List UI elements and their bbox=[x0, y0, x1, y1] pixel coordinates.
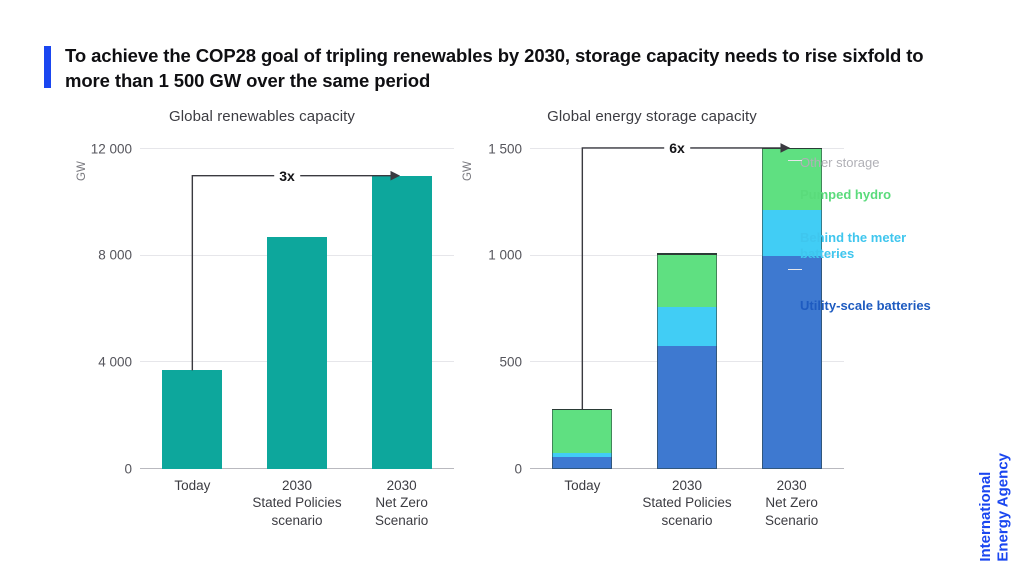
legend-item-utility[interactable]: Utility-scale batteries bbox=[800, 298, 950, 314]
x-axis-label-line: Today bbox=[535, 477, 629, 494]
y-axis-tick-label: 8 000 bbox=[98, 248, 132, 263]
x-axis-label: Today bbox=[145, 477, 239, 529]
bar-slot bbox=[640, 149, 734, 469]
y-axis-tick-label: 500 bbox=[499, 354, 522, 369]
bar-segment-utility[interactable] bbox=[657, 346, 717, 469]
x-axis-label: Today bbox=[535, 477, 629, 529]
bar[interactable] bbox=[657, 253, 717, 469]
legend-leader-line bbox=[788, 269, 802, 270]
bar-slot bbox=[355, 149, 449, 469]
x-axis-label-line: Net Zero bbox=[355, 494, 449, 511]
bar-slot bbox=[145, 149, 239, 469]
bar-group-storage bbox=[530, 149, 844, 469]
x-axis-label-line: Stated Policies bbox=[640, 494, 734, 511]
x-axis-labels-storage: Today2030Stated Policiesscenario2030Net … bbox=[530, 469, 844, 529]
x-axis-label: 2030Stated Policiesscenario bbox=[640, 477, 734, 529]
title-accent-bar bbox=[44, 46, 51, 88]
title-block: To achieve the COP28 goal of tripling re… bbox=[44, 44, 924, 93]
x-axis-label: 2030Net ZeroScenario bbox=[355, 477, 449, 529]
x-axis-label-line: Scenario bbox=[745, 512, 839, 529]
bar-segment-utility[interactable] bbox=[762, 256, 822, 469]
plot-inner-storage: 05001 0001 500 6x bbox=[530, 149, 844, 469]
bar[interactable] bbox=[267, 237, 327, 469]
x-axis-label-line: Today bbox=[145, 477, 239, 494]
x-axis-label-line: Stated Policies bbox=[250, 494, 344, 511]
bar-slot bbox=[535, 149, 629, 469]
chart-panel-storage: Global energy storage capacity GW 05001 … bbox=[452, 108, 852, 469]
bar-segment-btm[interactable] bbox=[657, 307, 717, 346]
x-axis-label-line: Net Zero bbox=[745, 494, 839, 511]
bar[interactable] bbox=[162, 370, 222, 469]
x-axis-label: 2030Net ZeroScenario bbox=[745, 477, 839, 529]
plot-area-storage: GW 05001 0001 500 6x Today2030Stated Pol… bbox=[452, 149, 852, 469]
y-axis-unit-storage: GW bbox=[462, 161, 474, 181]
legend-item-btm[interactable]: Behind the meter batteries bbox=[800, 230, 950, 262]
y-axis-tick-label: 1 500 bbox=[488, 141, 522, 156]
bar[interactable] bbox=[372, 176, 432, 469]
x-axis-label-line: 2030 bbox=[355, 477, 449, 494]
chart-title-storage: Global energy storage capacity bbox=[452, 108, 852, 125]
slide-canvas: To achieve the COP28 goal of tripling re… bbox=[0, 0, 1024, 576]
y-axis-unit-renewables: GW bbox=[76, 161, 88, 181]
chart-title-renewables: Global renewables capacity bbox=[62, 108, 462, 125]
y-axis-tick-label: 1 000 bbox=[488, 248, 522, 263]
iea-brand-label: International Energy Agency bbox=[977, 453, 1012, 562]
bar-segment-utility[interactable] bbox=[552, 457, 612, 469]
y-axis-tick-label: 4 000 bbox=[98, 354, 132, 369]
x-axis-label-line: scenario bbox=[250, 512, 344, 529]
page-title: To achieve the COP28 goal of tripling re… bbox=[65, 44, 924, 93]
x-axis-label-line: 2030 bbox=[745, 477, 839, 494]
bar-group-renewables bbox=[140, 149, 454, 469]
y-axis-tick-label: 0 bbox=[124, 461, 132, 476]
y-axis-tick-label: 12 000 bbox=[91, 141, 132, 156]
x-axis-label: 2030Stated Policiesscenario bbox=[250, 477, 344, 529]
legend-item-other[interactable]: Other storage bbox=[800, 155, 950, 171]
bar-segment-pumped[interactable] bbox=[657, 255, 717, 307]
x-axis-label-line: Scenario bbox=[355, 512, 449, 529]
chart-panel-renewables: Global renewables capacity GW 04 0008 00… bbox=[62, 108, 462, 469]
plot-area-renewables: GW 04 0008 00012 000 3x Today2030Stated … bbox=[62, 149, 462, 469]
bar-slot bbox=[250, 149, 344, 469]
y-axis-tick-label: 0 bbox=[514, 461, 522, 476]
x-axis-label-line: 2030 bbox=[250, 477, 344, 494]
bar-segment-pumped[interactable] bbox=[552, 410, 612, 452]
x-axis-label-line: 2030 bbox=[640, 477, 734, 494]
x-axis-labels-renewables: Today2030Stated Policiesscenario2030Net … bbox=[140, 469, 454, 529]
bar[interactable] bbox=[552, 409, 612, 469]
legend-item-pumped[interactable]: Pumped hydro bbox=[800, 187, 950, 203]
legend-leader-line bbox=[788, 160, 802, 161]
x-axis-label-line: scenario bbox=[640, 512, 734, 529]
plot-inner-renewables: 04 0008 00012 000 3x bbox=[140, 149, 454, 469]
